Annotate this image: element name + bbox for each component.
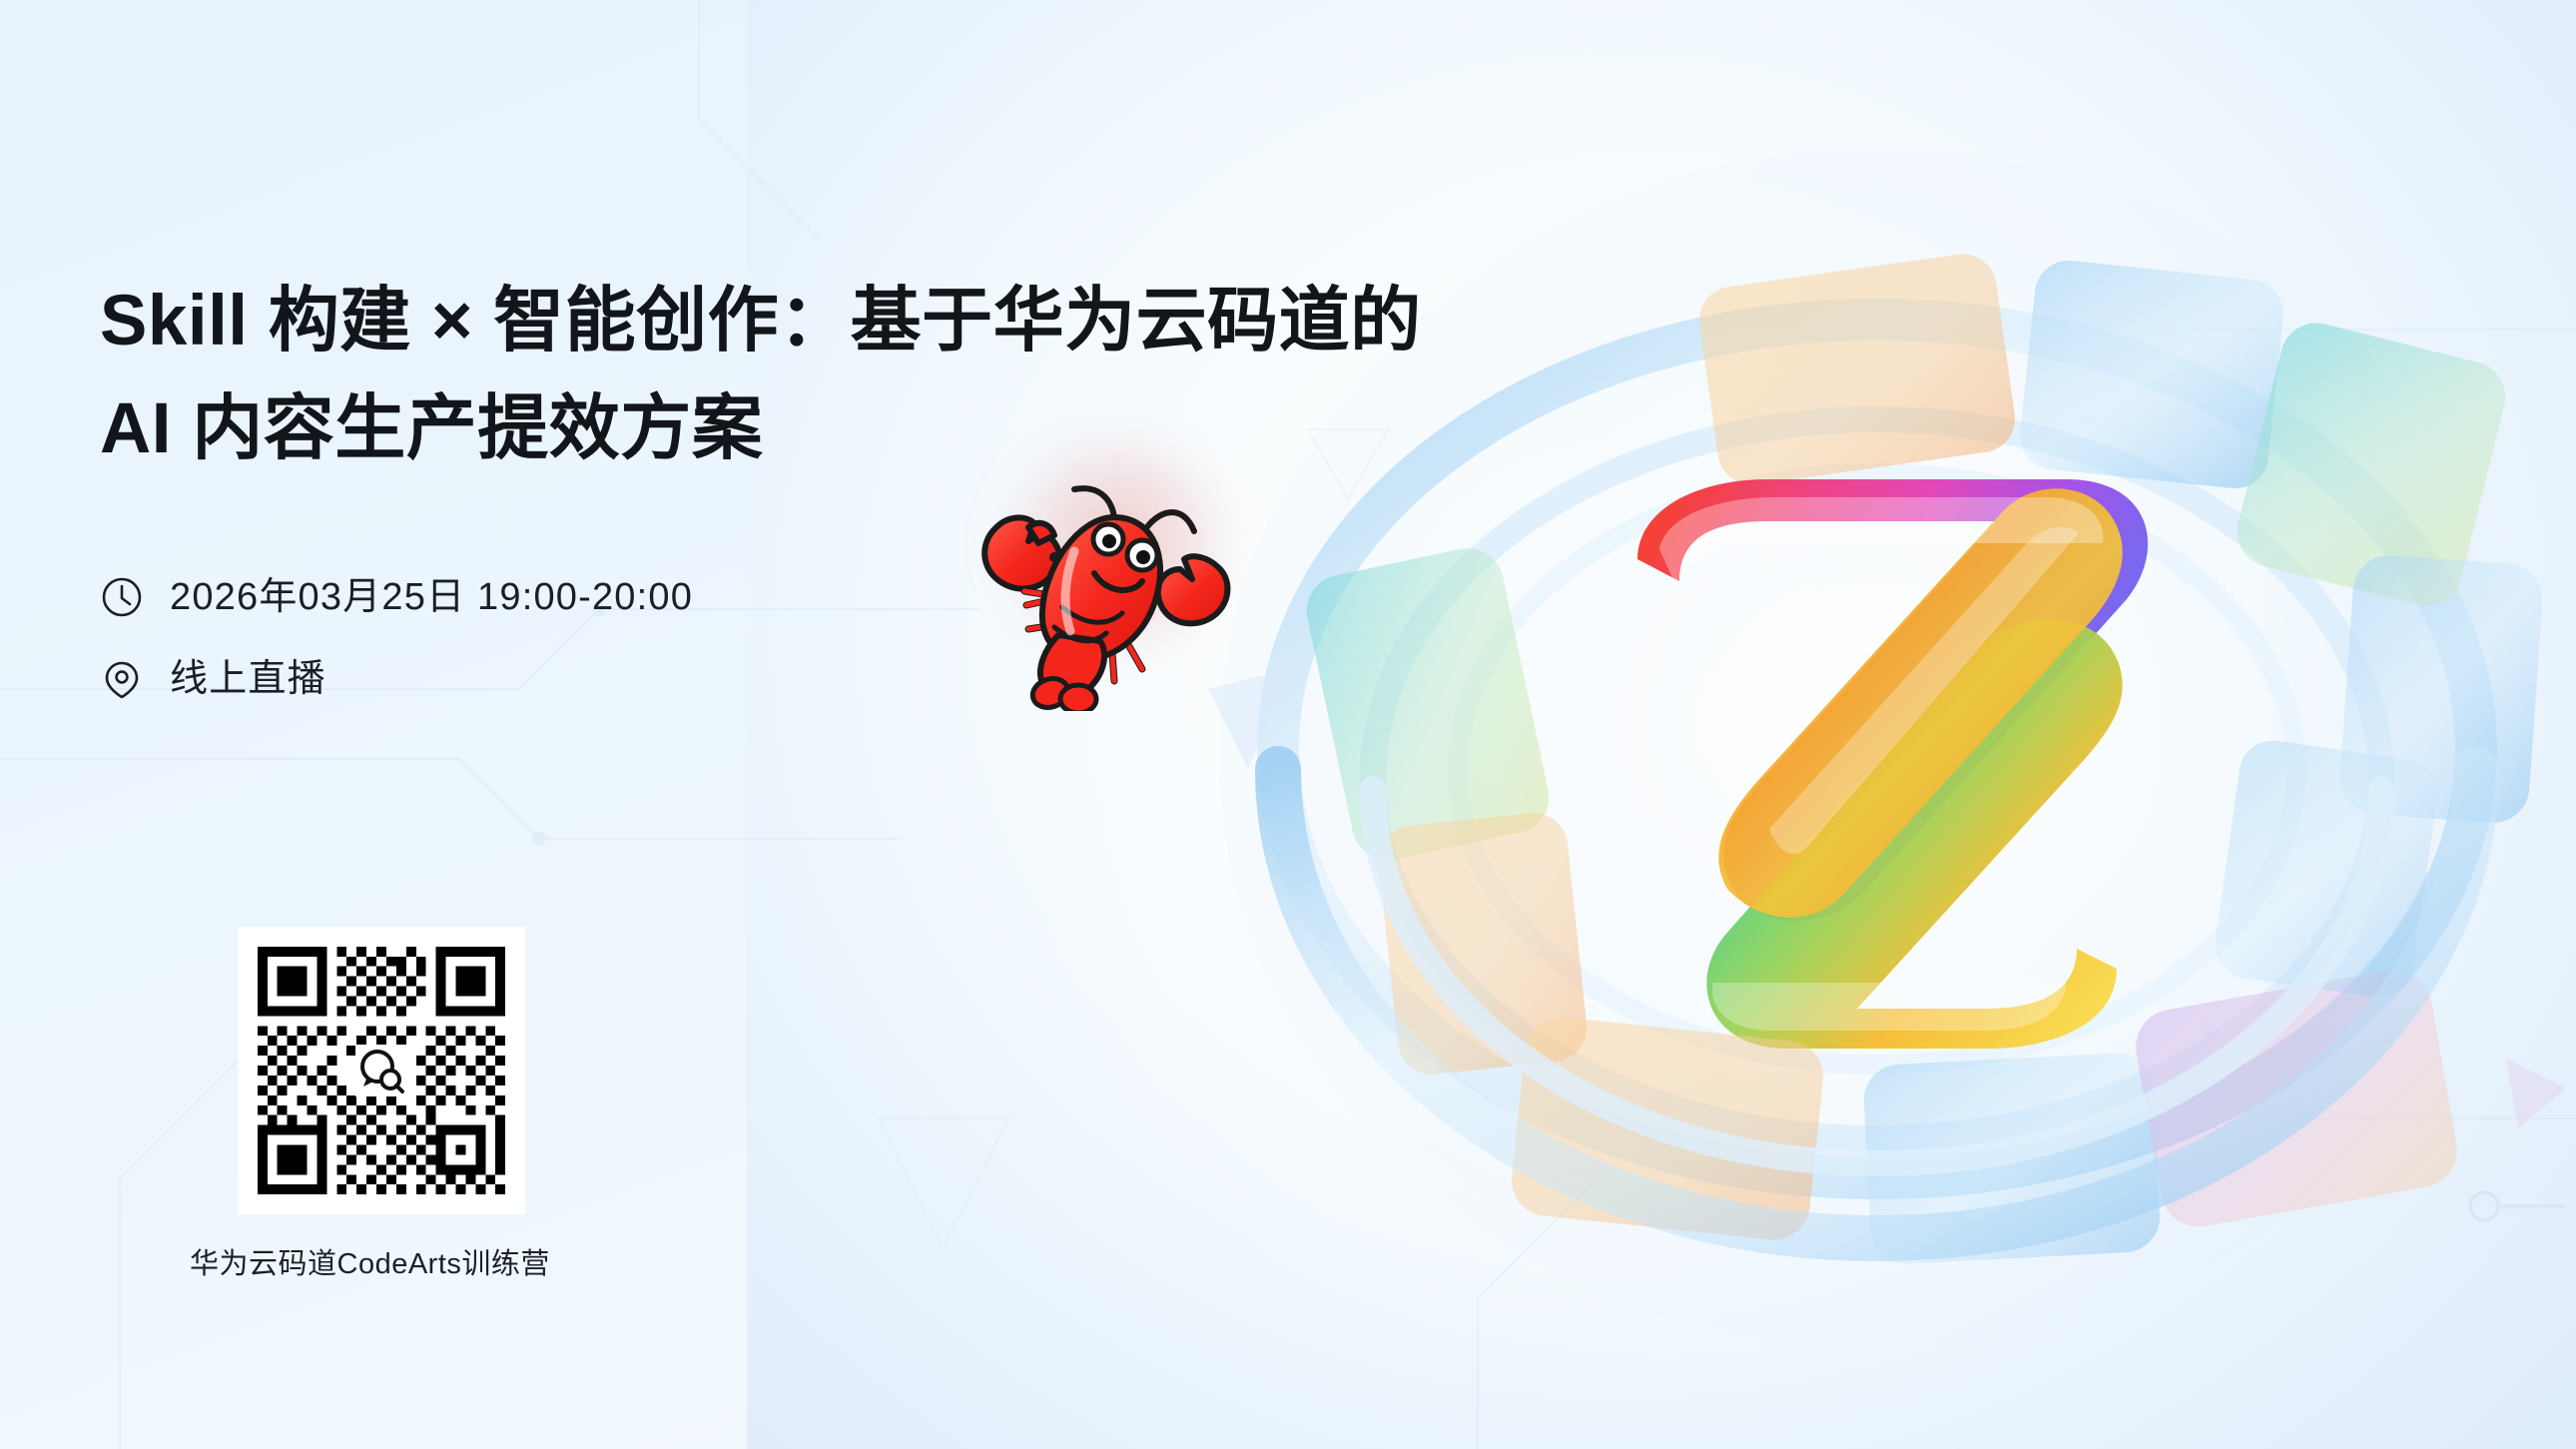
page-title-line-1: Skill 构建 × 智能创作：基于华为云码道的: [100, 268, 1218, 375]
event-datetime-text: 2026年03月25日 19:00-20:00: [170, 578, 693, 616]
location-pin-icon: [100, 657, 144, 701]
qr-code-caption: 华为云码道CodeArts训练营: [190, 1240, 477, 1282]
event-location-text: 线上直播: [170, 660, 326, 698]
qr-code-image[interactable]: [238, 927, 525, 1214]
qr-code-block: 华为云码道CodeArts训练营: [238, 927, 525, 1282]
clock-icon: [100, 575, 144, 619]
webinar-banner: Skill 构建 × 智能创作：基于华为云码道的 AI 内容生产提效方案 202…: [0, 0, 2576, 1449]
wechat-bubble-icon: [355, 1045, 407, 1096]
lobster-emoji-icon: [966, 431, 1246, 711]
